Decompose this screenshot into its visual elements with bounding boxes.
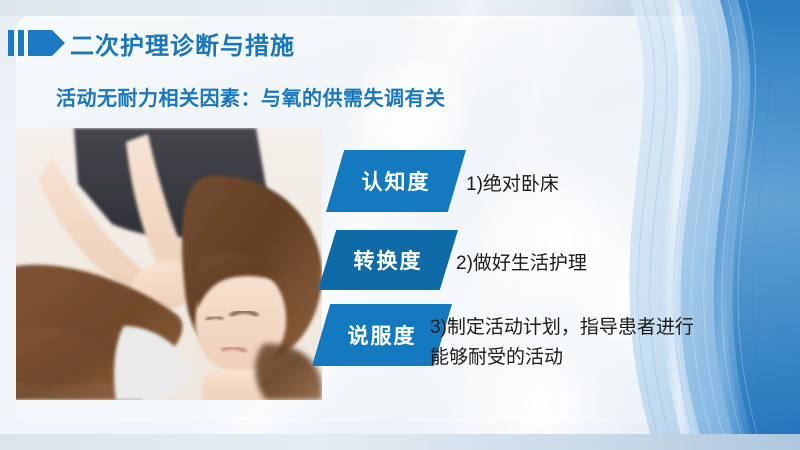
top-band xyxy=(0,0,800,16)
bottom-band xyxy=(0,434,800,450)
list-item-1: 1)绝对卧床 xyxy=(466,170,559,200)
presentation-slide: 二次护理诊断与措施 活动无耐力相关因素：与氧的供需失调有关 xyxy=(0,0,800,450)
list-item-3: 3)制定活动计划，指导患者进行能够耐受的活动 xyxy=(430,313,700,373)
label-box-1-text: 认知度 xyxy=(362,166,431,196)
label-box-2[interactable]: 转换度 xyxy=(318,230,458,290)
bars-arrow-icon xyxy=(8,30,66,56)
list-item-2: 2)做好生活护理 xyxy=(456,249,587,279)
page-subtitle: 活动无耐力相关因素：与氧的供需失调有关 xyxy=(56,82,446,111)
label-box-1[interactable]: 认知度 xyxy=(326,150,466,212)
label-box-3-text: 说服度 xyxy=(348,320,417,350)
label-box-2-text: 转换度 xyxy=(354,245,423,275)
page-title: 二次护理诊断与措施 xyxy=(70,26,295,61)
massage-therapy-photo xyxy=(16,128,322,400)
